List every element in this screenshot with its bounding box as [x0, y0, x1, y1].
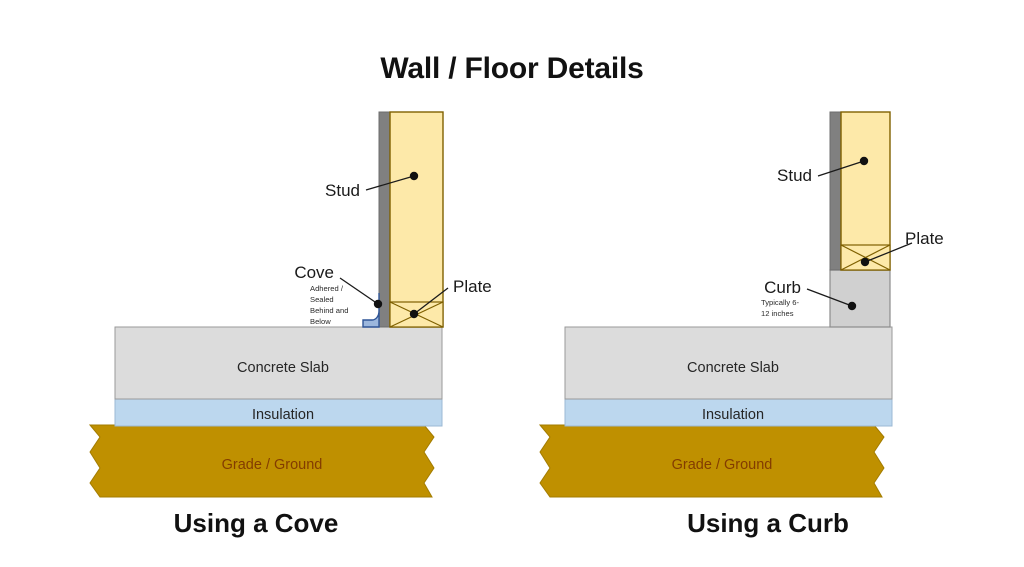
- caption-cove: Using a Cove: [0, 508, 512, 539]
- ground-label: Grade / Ground: [672, 457, 773, 473]
- sheathing-strip: [379, 112, 390, 327]
- cove-leader-line: [340, 278, 378, 304]
- plate-leader-dot: [410, 310, 418, 318]
- insulation-label: Insulation: [252, 407, 314, 423]
- sheathing-strip: [830, 112, 841, 270]
- curb-subnote-line-2: 12 inches: [761, 309, 794, 318]
- cove-subnote-line-3: Behind and: [310, 306, 348, 315]
- concrete-slab-label: Concrete Slab: [687, 360, 779, 376]
- stud-member: [390, 112, 443, 327]
- plate-label: Plate: [453, 277, 492, 296]
- stud-label: Stud: [777, 166, 812, 185]
- diagram-canvas: Wall / Floor Details Grade / Ground Insu…: [0, 0, 1024, 567]
- cove-subnote-line-1: Adhered /: [310, 284, 344, 293]
- cove-subnote-line-2: Sealed: [310, 295, 334, 304]
- cove-flashing: [363, 293, 379, 327]
- curb-leader-dot: [848, 302, 856, 310]
- concrete-slab-label: Concrete Slab: [237, 360, 329, 376]
- panel-curb: Grade / Ground Insulation Concrete Slab …: [512, 0, 1024, 567]
- cove-subnote-line-4: Below: [310, 317, 331, 326]
- ground-label: Grade / Ground: [222, 457, 323, 473]
- plate-label: Plate: [905, 229, 944, 248]
- stud-label: Stud: [325, 181, 360, 200]
- curb-detail-drawing: Grade / Ground Insulation Concrete Slab …: [512, 0, 1024, 512]
- curb-block: [830, 270, 890, 327]
- curb-label: Curb: [764, 278, 801, 297]
- insulation-label: Insulation: [702, 407, 764, 423]
- cove-label: Cove: [294, 263, 334, 282]
- plate-leader-dot: [861, 258, 869, 266]
- stud-leader-dot: [410, 172, 418, 180]
- curb-subnote-line-1: Typically 6-: [761, 298, 799, 307]
- cove-leader-dot: [374, 300, 382, 308]
- stud-leader-dot: [860, 157, 868, 165]
- panel-cove: Grade / Ground Insulation Concrete Slab …: [0, 0, 512, 567]
- caption-curb: Using a Curb: [512, 508, 1024, 539]
- cove-detail-drawing: Grade / Ground Insulation Concrete Slab …: [0, 0, 512, 512]
